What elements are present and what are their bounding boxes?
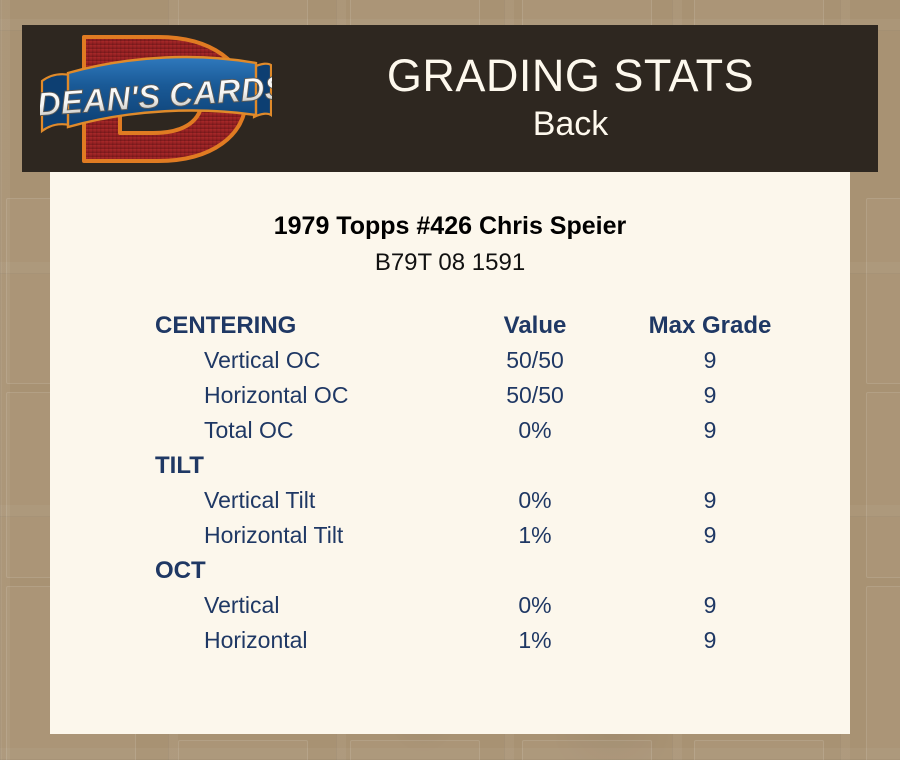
stat-value: 0% (450, 413, 620, 448)
stat-label: Vertical (50, 588, 450, 623)
table-row: Horizontal Tilt1%9 (50, 518, 850, 553)
background-card-ghost (350, 740, 480, 760)
stat-max-grade: 9 (620, 343, 800, 378)
stat-value: 0% (450, 588, 620, 623)
background-card-ghost (866, 198, 900, 384)
stat-value: 50/50 (450, 378, 620, 413)
stat-label: Horizontal OC (50, 378, 450, 413)
stat-value: 50/50 (450, 343, 620, 378)
stat-label: Vertical Tilt (50, 483, 450, 518)
stat-label: Total OC (50, 413, 450, 448)
stat-max-grade: 9 (620, 588, 800, 623)
deans-cards-logo[interactable]: DEAN'S CARDS (22, 25, 287, 172)
background-card-ghost (522, 740, 652, 760)
background-card-ghost (694, 740, 824, 760)
stat-value: 0% (450, 483, 620, 518)
stat-value: 1% (450, 623, 620, 658)
stat-label: Vertical OC (50, 343, 450, 378)
background-card-ghost (866, 586, 900, 760)
stat-value: 1% (450, 518, 620, 553)
section-name: CENTERING (50, 308, 450, 343)
header-bar: DEAN'S CARDS GRADING STATS Back (22, 25, 878, 172)
page-title: GRADING STATS (287, 49, 854, 103)
column-header-max-grade: Max Grade (620, 308, 800, 343)
stat-max-grade: 9 (620, 483, 800, 518)
stat-max-grade: 9 (620, 378, 800, 413)
stat-max-grade: 9 (620, 623, 800, 658)
stat-label: Horizontal (50, 623, 450, 658)
table-row: Horizontal OC50/509 (50, 378, 850, 413)
content-panel: 1979 Topps #426 Chris Speier B79T 08 159… (50, 172, 850, 734)
table-row: Horizontal1%9 (50, 623, 850, 658)
page-subtitle: Back (287, 103, 854, 145)
card-code: B79T 08 1591 (50, 247, 850, 279)
stat-max-grade: 9 (620, 518, 800, 553)
table-row: Vertical0%9 (50, 588, 850, 623)
table-row: Vertical OC50/509 (50, 343, 850, 378)
header-titles: GRADING STATS Back (287, 49, 878, 145)
card-title: 1979 Topps #426 Chris Speier (50, 210, 850, 242)
background-card-ghost (178, 740, 308, 760)
stats-section-header-oct: OCT (50, 553, 850, 588)
background-card-ghost (866, 392, 900, 578)
stats-section-header-tilt: TILT (50, 448, 850, 483)
column-header-value: Value (450, 308, 620, 343)
table-row: Total OC0%9 (50, 413, 850, 448)
grading-stats-table: CENTERINGValueMax GradeVertical OC50/509… (50, 308, 850, 658)
stat-label: Horizontal Tilt (50, 518, 450, 553)
deans-cards-logo-icon: DEAN'S CARDS (40, 29, 272, 169)
table-row: Vertical Tilt0%9 (50, 483, 850, 518)
section-name: TILT (50, 448, 450, 483)
stats-section-header-centering: CENTERINGValueMax Grade (50, 308, 850, 343)
stat-max-grade: 9 (620, 413, 800, 448)
section-name: OCT (50, 553, 450, 588)
